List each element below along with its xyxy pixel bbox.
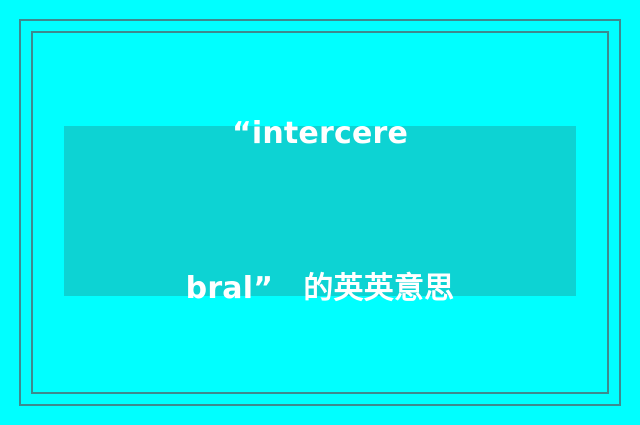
poster-canvas: “intercere bral” 的英英意思 (0, 0, 640, 425)
headline-line-2: bral” 的英英意思 (186, 263, 455, 315)
headline-line-1: “intercere (186, 108, 455, 160)
headline-card: “intercere bral” 的英英意思 (64, 126, 576, 296)
headline-text: “intercere bral” 的英英意思 (186, 5, 455, 418)
